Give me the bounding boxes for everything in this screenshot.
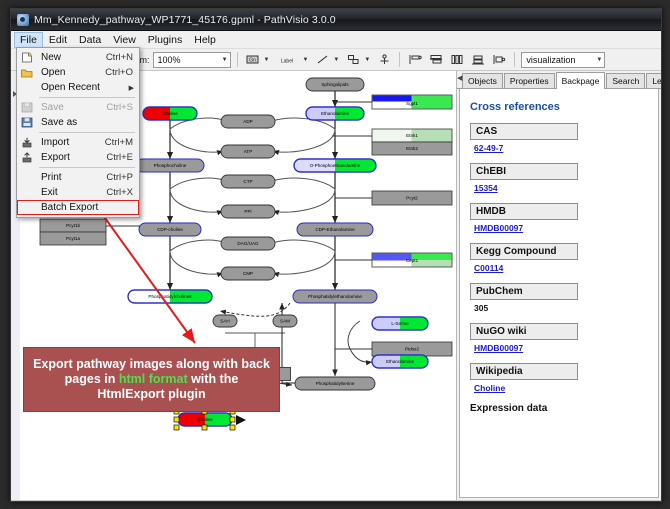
ref-source-wikipedia: Wikipedia <box>470 363 578 380</box>
metabolite-node-atp: ATP <box>221 145 275 158</box>
zoom-combobox[interactable]: 100% ▼ <box>153 52 231 68</box>
ref-source-cas: CAS <box>470 123 578 140</box>
metabolite-node-phosphatidylcholines: Phosphatidylcholines <box>128 290 212 303</box>
toolbar-separator <box>514 52 515 67</box>
svg-text:CDP-choline: CDP-choline <box>157 227 183 232</box>
ref-value-chebi[interactable]: 15354 <box>474 183 658 193</box>
menu-item-open[interactable]: Open Ctrl+O <box>17 65 139 80</box>
svg-text:Phosphocholine: Phosphocholine <box>154 163 187 168</box>
gene-node-cept1: Cept1 <box>372 253 452 267</box>
tab-objects[interactable]: Objects <box>462 73 503 88</box>
menu-file[interactable]: File <box>14 32 43 48</box>
metabolite-node-cmp: CMP <box>221 267 275 280</box>
menu-item-import[interactable]: Import Ctrl+M <box>17 135 139 150</box>
interaction-icon[interactable] <box>344 51 362 68</box>
zoom-value: 100% <box>158 55 181 65</box>
menu-item-export-accel: Ctrl+E <box>106 152 139 163</box>
metabolite-node-dag-uag: DAG/UAG <box>221 237 275 250</box>
align-left-icon[interactable] <box>406 51 424 68</box>
menu-item-export-label: Export <box>41 152 106 163</box>
gene-node-etnk2: Etnk2 <box>372 142 452 155</box>
menu-item-batch-export-label: Batch Export <box>41 202 139 213</box>
menu-item-new[interactable]: New Ctrl+N <box>17 50 139 65</box>
metabolite-node-ppi: PPi <box>221 205 275 218</box>
import-icon <box>21 137 33 148</box>
svg-text:Label: Label <box>281 58 293 64</box>
distribute-icon[interactable] <box>448 51 466 68</box>
svg-text:Phosphatidylcholines: Phosphatidylcholines <box>148 294 192 299</box>
svg-text:Etnk2: Etnk2 <box>406 146 418 151</box>
metabolite-node-sphingolipids: Sphingolipids <box>306 78 364 91</box>
title-bar: Mm_Kennedy_pathway_WP1771_45176.gpml - P… <box>11 9 661 31</box>
menu-separator <box>39 167 135 168</box>
window-title: Mm_Kennedy_pathway_WP1771_45176.gpml - P… <box>34 14 336 26</box>
callout-line-2-after: with the <box>188 372 239 386</box>
metabolite-node-choline: Choline <box>143 107 197 120</box>
menu-item-exit-accel: Ctrl+X <box>106 187 139 198</box>
menu-view[interactable]: View <box>107 32 142 48</box>
chevron-down-icon[interactable]: ▼ <box>364 57 370 63</box>
menu-item-save: Save Ctrl+S <box>17 100 139 115</box>
svg-text:SAM: SAM <box>280 319 290 324</box>
svg-text:Phosphatidylethanolamine: Phosphatidylethanolamine <box>308 294 362 299</box>
toolbar-separator <box>237 52 238 67</box>
status-bar: Gene database: ...m_Derby_20120602.bridg… <box>11 500 661 502</box>
menu-separator <box>39 132 135 133</box>
backpage-content[interactable]: Cross references CAS 62-49-7 ChEBI 15354… <box>459 89 659 498</box>
menu-item-open-recent-label: Open Recent <box>41 82 129 93</box>
metabolite-node-cdp-ethanolamine: CDP-Ethanolamine <box>297 223 373 236</box>
ref-value-nugo-wiki[interactable]: HMDB00097 <box>474 343 658 353</box>
metabolite-node-adp: ADP <box>221 115 275 128</box>
ref-source-kegg-compound: Kegg Compound <box>470 243 578 260</box>
menu-item-open-recent[interactable]: Open Recent ▶ <box>17 80 139 95</box>
menu-item-new-label: New <box>41 52 106 63</box>
right-side-panel: ◀ Objects Properties Backpage Search Leg… <box>457 71 661 500</box>
metabolite-node-phosphocholine: Phosphocholine <box>136 159 204 172</box>
menu-item-open-accel: Ctrl+O <box>105 67 139 78</box>
metabolite-node-o-phosphoethanolamine: O-Phosphoethanolamine <box>294 159 376 172</box>
menu-item-save-as[interactable]: Save as <box>17 115 139 130</box>
save-as-icon <box>21 117 33 128</box>
metabolite-node-choline-selected: Choline <box>174 409 246 430</box>
save-icon <box>21 102 33 113</box>
metabolite-node-phosphatidylserine: Phosphatidylserine <box>295 377 375 390</box>
ref-value-cas[interactable]: 62-49-7 <box>474 143 658 153</box>
metabolite-node-l-serine: L-Serine <box>372 317 428 330</box>
gene-node-etnk1: Etnk1 <box>372 129 452 142</box>
ref-source-chebi: ChEBI <box>470 163 578 180</box>
visualization-combobox[interactable]: visualization ▼ <box>521 52 605 68</box>
tab-legend[interactable]: Legend <box>646 73 662 88</box>
menu-item-print-accel: Ctrl+P <box>106 172 139 183</box>
svg-text:CTP: CTP <box>243 179 252 184</box>
expression-data-heading: Expression data <box>470 403 658 414</box>
gene-node-pcyt1b: Pcyt1b <box>40 219 106 232</box>
metabolite-node-cdp-choline: CDP-choline <box>139 223 201 236</box>
tab-properties[interactable]: Properties <box>504 73 555 88</box>
chevron-down-icon[interactable]: ▼ <box>302 57 308 63</box>
stack-icon[interactable] <box>469 51 487 68</box>
chevron-down-icon[interactable]: ▼ <box>333 57 339 63</box>
panel-tab-strip: ◀ Objects Properties Backpage Search Leg… <box>457 71 661 89</box>
menu-plugins[interactable]: Plugins <box>142 32 188 48</box>
callout-line-2-before: pages in <box>65 372 119 386</box>
menu-item-export[interactable]: Export Ctrl+E <box>17 150 139 165</box>
metabolite-node-ctp: CTP <box>221 175 275 188</box>
svg-text:Sgpl1: Sgpl1 <box>406 101 418 106</box>
svg-text:CMP: CMP <box>243 271 253 276</box>
callout-line-1: Export pathway images along with back <box>33 357 270 372</box>
svg-text:Etnk1: Etnk1 <box>406 133 418 138</box>
menu-data[interactable]: Data <box>73 32 107 48</box>
line-icon[interactable] <box>313 51 331 68</box>
menu-item-exit-label: Exit <box>41 187 106 198</box>
svg-text:ATP: ATP <box>244 149 253 154</box>
callout-line-2: pages in html format with the <box>65 372 239 387</box>
ref-source-pubchem: PubChem <box>470 283 578 300</box>
menu-item-save-accel: Ctrl+S <box>106 102 139 113</box>
metabolite-node-sah: SAH <box>213 315 237 327</box>
svg-text:Phosphatidylserine: Phosphatidylserine <box>316 381 355 386</box>
svg-text:Gn: Gn <box>249 58 256 64</box>
label-icon[interactable]: Label <box>274 51 300 68</box>
gene-node-ptdss2: Ptdss2 <box>372 342 452 356</box>
menu-item-import-accel: Ctrl+M <box>105 137 139 148</box>
ref-value-pubchem: 305 <box>474 303 658 313</box>
metabolite-node-sam: SAM <box>273 315 297 327</box>
tab-backpage[interactable]: Backpage <box>556 72 606 89</box>
menu-item-open-label: Open <box>41 67 105 78</box>
gene-node-pcyt1a: Pcyt1a <box>40 232 106 245</box>
callout-highlight: html format <box>119 372 188 386</box>
toolbar-separator <box>399 52 400 67</box>
svg-text:Cept1: Cept1 <box>406 258 419 263</box>
svg-text:Pcyt1b: Pcyt1b <box>66 223 80 228</box>
gene-node-pcyt2: Pcyt2 <box>372 191 452 205</box>
chevron-down-icon: ▼ <box>596 57 602 63</box>
svg-text:Ptdss2: Ptdss2 <box>405 347 419 352</box>
metabolite-node-ethanolamine: Ethanolamine <box>306 107 364 120</box>
svg-text:ADP: ADP <box>243 119 252 124</box>
svg-text:L-Serine: L-Serine <box>391 321 409 326</box>
menu-item-batch-export[interactable]: Batch Export <box>17 200 139 215</box>
menu-item-print-label: Print <box>41 172 106 183</box>
rotation-handle <box>236 415 246 425</box>
chevron-down-icon[interactable]: ▼ <box>264 57 270 63</box>
tab-scroll-left-icon[interactable]: ◀ <box>457 74 462 82</box>
menu-edit[interactable]: Edit <box>43 32 73 48</box>
svg-text:DAG/UAG: DAG/UAG <box>237 241 259 246</box>
svg-text:Choline: Choline <box>197 417 213 422</box>
ref-source-nugo-wiki: NuGO wiki <box>470 323 578 340</box>
ref-value-hmdb[interactable]: HMDB00097 <box>474 223 658 233</box>
chevron-down-icon: ▼ <box>222 57 228 63</box>
export-icon <box>21 152 33 163</box>
svg-text:CDP-Ethanolamine: CDP-Ethanolamine <box>315 227 355 232</box>
metabolite-node-ethanolamine-2: Ethanolamine <box>372 355 428 368</box>
order-icon[interactable] <box>490 51 508 68</box>
svg-text:Pcyt1a: Pcyt1a <box>66 236 80 241</box>
ref-value-kegg-compound[interactable]: C00114 <box>474 263 658 273</box>
new-file-icon <box>21 52 33 63</box>
menu-item-save-label: Save <box>41 102 106 113</box>
menu-item-exit[interactable]: Exit Ctrl+X <box>17 185 139 200</box>
align-center-icon[interactable] <box>427 51 445 68</box>
svg-text:Pcyt2: Pcyt2 <box>406 196 418 201</box>
svg-text:O-Phosphoethanolamine: O-Phosphoethanolamine <box>310 163 361 168</box>
menu-item-import-label: Import <box>41 137 105 148</box>
menu-help[interactable]: Help <box>188 32 222 48</box>
menu-item-new-accel: Ctrl+N <box>106 52 139 63</box>
annotation-callout: Export pathway images along with back pa… <box>23 347 280 412</box>
metabolite-node-phosphatidylethanolamine: Phosphatidylethanolamine <box>293 290 377 303</box>
application-window: Mm_Kennedy_pathway_WP1771_45176.gpml - P… <box>10 8 662 502</box>
folder-open-icon <box>21 67 33 78</box>
anchor-icon[interactable] <box>375 51 393 68</box>
svg-text:Ethanolamine: Ethanolamine <box>321 111 350 116</box>
file-dropdown-menu[interactable]: New Ctrl+N Open Ctrl+O Open Recent ▶ Sav… <box>16 47 140 218</box>
ref-value-wikipedia[interactable]: Choline <box>474 383 658 393</box>
screenshot-root: Mm_Kennedy_pathway_WP1771_45176.gpml - P… <box>0 0 670 509</box>
menu-item-print[interactable]: Print Ctrl+P <box>17 170 139 185</box>
svg-text:Choline: Choline <box>162 111 178 116</box>
svg-text:Ethanolamine: Ethanolamine <box>386 359 415 364</box>
callout-line-3: HtmlExport plugin <box>97 387 205 402</box>
gene-node-sgpl1: Sgpl1 <box>372 95 452 109</box>
submenu-arrow-icon: ▶ <box>129 84 139 92</box>
datanode-icon[interactable]: Gn <box>244 51 262 68</box>
menu-separator <box>39 97 135 98</box>
svg-text:SAH: SAH <box>220 319 229 324</box>
svg-text:Sphingolipids: Sphingolipids <box>321 82 349 87</box>
ref-source-hmdb: HMDB <box>470 203 578 220</box>
menu-item-save-as-label: Save as <box>41 117 133 128</box>
tab-search[interactable]: Search <box>606 73 645 88</box>
pathvisio-icon <box>17 14 29 26</box>
visualization-value: visualization <box>526 55 575 65</box>
cross-references-heading: Cross references <box>470 101 658 113</box>
svg-text:PPi: PPi <box>244 209 251 214</box>
